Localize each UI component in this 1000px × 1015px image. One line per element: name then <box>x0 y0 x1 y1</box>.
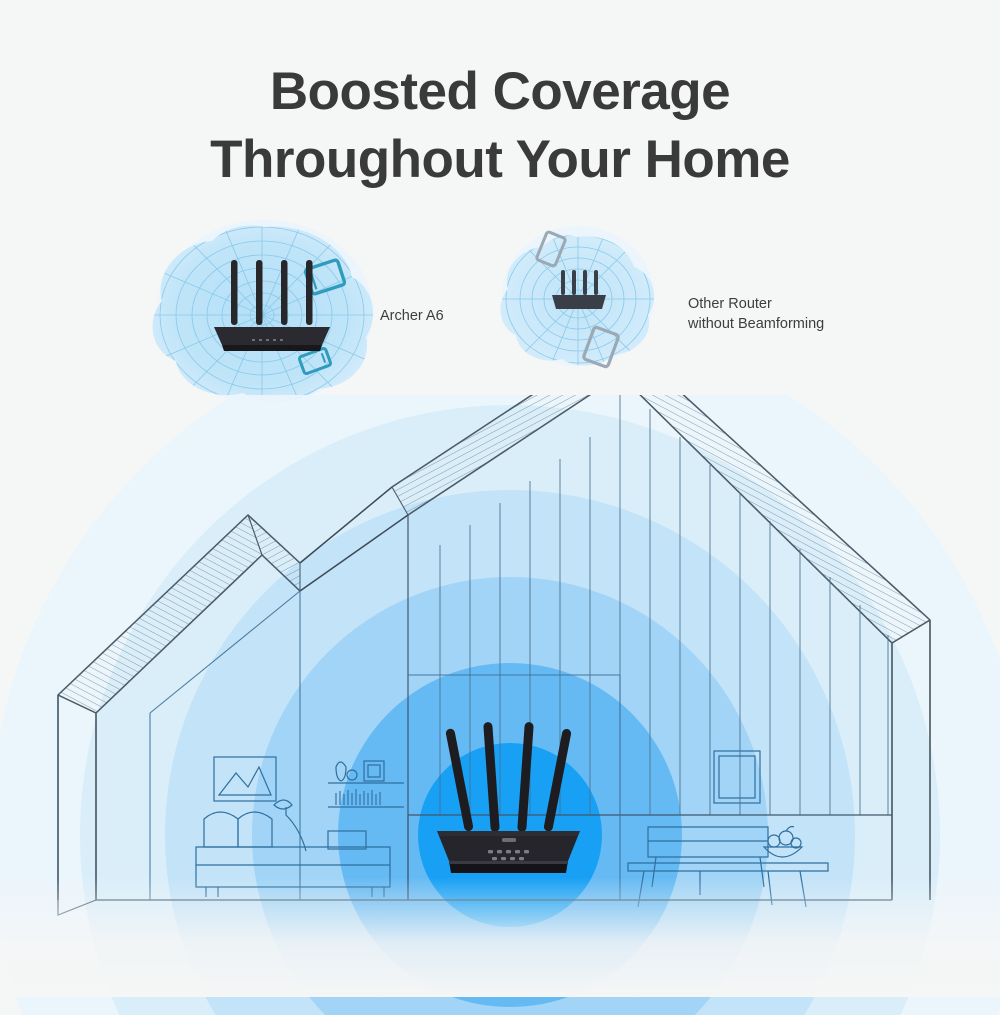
page-title-line-1: Boosted Coverage <box>0 58 1000 126</box>
label-other-router: Other Router without Beamforming <box>688 295 824 334</box>
illustration-stage: Boosted Coverage Throughout Your Home <box>0 0 1000 997</box>
right-coverage-blob <box>494 215 662 383</box>
bottom-fade <box>0 877 1000 997</box>
label-archer-a6: Archer A6 <box>380 307 444 327</box>
label-other-router-line-1: Other Router <box>688 295 824 315</box>
label-other-router-line-2: without Beamforming <box>688 315 824 335</box>
coverage-comparison-graphic <box>0 215 1000 405</box>
page-title: Boosted Coverage Throughout Your Home <box>0 58 1000 194</box>
left-coverage-blob <box>142 215 382 405</box>
page-title-line-2: Throughout Your Home <box>0 126 1000 194</box>
